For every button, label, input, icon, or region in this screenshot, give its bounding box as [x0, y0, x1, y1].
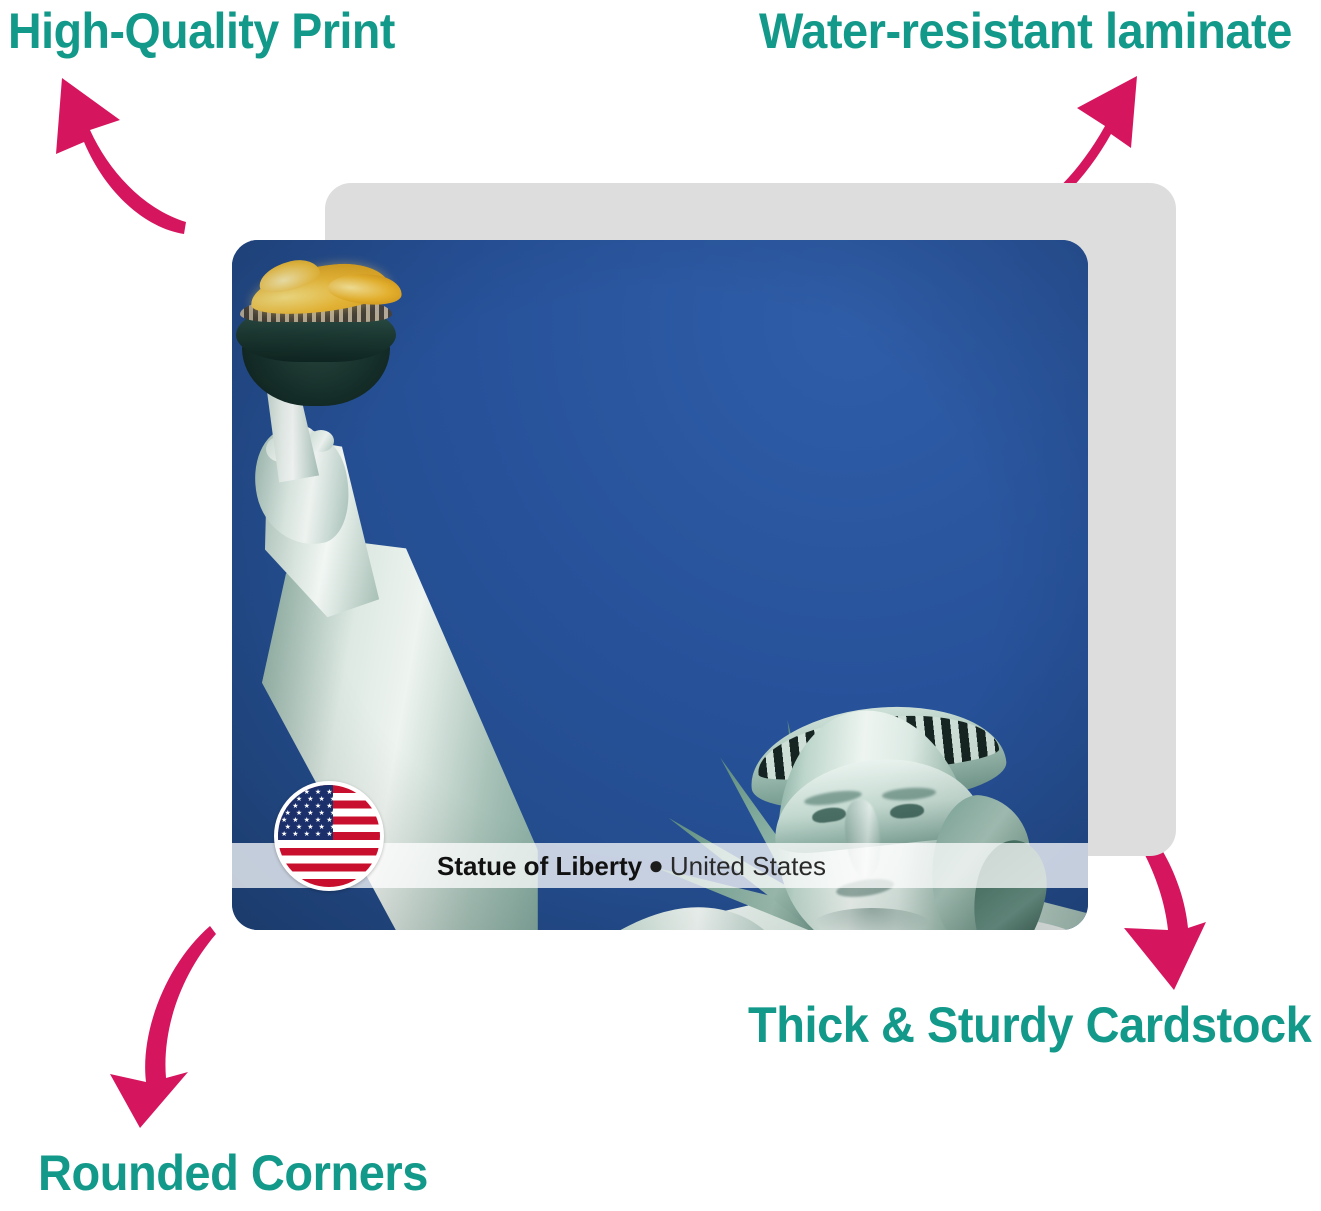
callout-high-quality-print: High-Quality Print — [8, 6, 395, 56]
flag-stars: ★ ★ ★ ★ ★ ★ ★ ★ ★ ★ ★ ★ ★ ★ ★ ★ ★ ★ ★ ★ … — [278, 785, 333, 840]
caption-country: United States — [670, 851, 826, 881]
usa-flag-badge: ★ ★ ★ ★ ★ ★ ★ ★ ★ ★ ★ ★ ★ ★ ★ ★ ★ ★ ★ ★ … — [274, 781, 384, 891]
callout-rounded-corners: Rounded Corners — [38, 1148, 428, 1198]
usa-flag-icon: ★ ★ ★ ★ ★ ★ ★ ★ ★ ★ ★ ★ ★ ★ ★ ★ ★ ★ ★ ★ … — [278, 785, 380, 887]
caption-text: Statue of Liberty●United States — [437, 853, 826, 879]
caption-place: Statue of Liberty — [437, 851, 642, 881]
arrow-to-corners-icon — [92, 922, 292, 1132]
arrow-to-print-icon — [34, 72, 234, 272]
caption-separator: ● — [642, 850, 670, 880]
callout-water-resistant-laminate: Water-resistant laminate — [759, 6, 1292, 56]
infographic-canvas: High-Quality Print Water-resistant lamin… — [0, 0, 1321, 1211]
postcard[interactable]: Statue of Liberty●United States ★ ★ ★ ★ … — [232, 240, 1088, 930]
